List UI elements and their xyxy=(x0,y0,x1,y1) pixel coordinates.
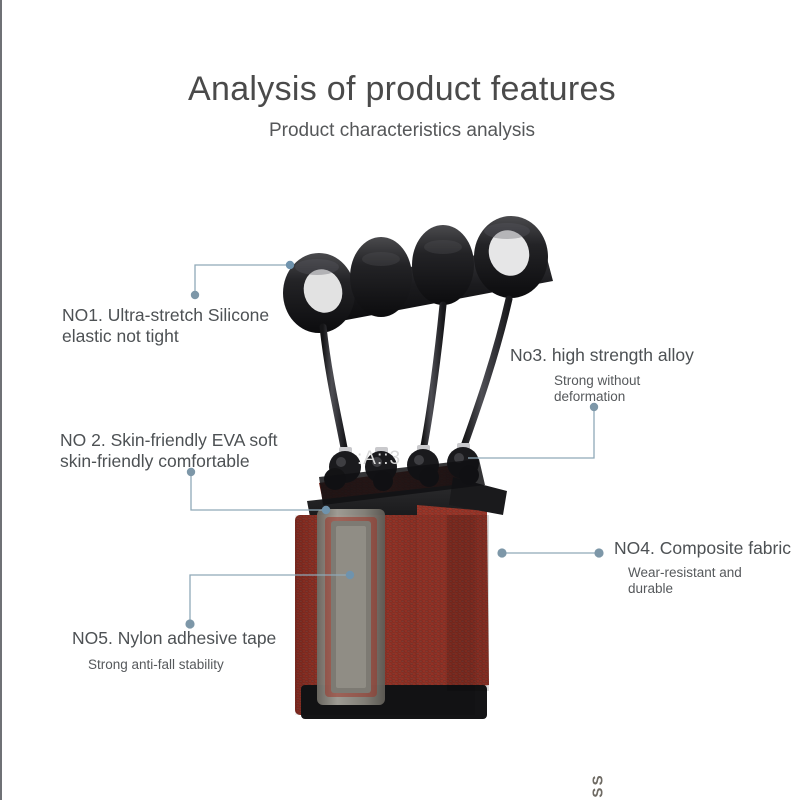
annotation-no2: NO 2. Skin-friendly EVA soft skin-friend… xyxy=(60,430,278,472)
annotation-no2-line1: NO 2. Skin-friendly EVA soft xyxy=(60,430,278,451)
annotation-no3-sub-line2: deformation xyxy=(554,389,694,405)
alloy-rods xyxy=(323,299,509,453)
annotation-no3-sub-line1: Strong without xyxy=(554,373,694,389)
annotation-no1-line2: elastic not tight xyxy=(62,326,269,347)
page-subtitle: Product characteristics analysis xyxy=(2,120,800,142)
annotation-no5-line1: NO5. Nylon adhesive tape xyxy=(72,628,276,649)
annotation-no4-sub-line1: Wear-resistant and xyxy=(628,565,791,581)
annotation-no4-sub-line2: durable xyxy=(628,581,791,597)
annotation-no2-line2: skin-friendly comfortable xyxy=(60,451,278,472)
leader-dot-no4-text xyxy=(594,548,603,557)
product-feature-infographic: Analysis of product features Product cha… xyxy=(0,0,800,800)
annotation-no5: NO5. Nylon adhesive tape Strong anti-fal… xyxy=(72,628,276,673)
annotation-no3: No3. high strength alloy Strong without … xyxy=(510,345,694,405)
image-overlay-artifact: :A::3 xyxy=(357,448,401,470)
annotation-no3-sub: Strong without deformation xyxy=(554,373,694,405)
annotation-no4-line1: NO4. Composite fabric xyxy=(614,538,791,559)
leader-dot-no1-text xyxy=(191,291,199,299)
buckle-hardness-label: HARDNESS xyxy=(586,736,610,800)
finger-rings xyxy=(283,216,553,333)
annotation-no5-sub-line1: Strong anti-fall stability xyxy=(88,657,276,673)
annotation-no1-line1: NO1. Ultra-stretch Silicone xyxy=(62,305,269,326)
product-image-grip-strengthener: HARDNESS xyxy=(257,215,577,725)
annotation-no1: NO1. Ultra-stretch Silicone elastic not … xyxy=(62,305,269,347)
buckle-plate xyxy=(317,509,385,705)
annotation-no3-line1: No3. high strength alloy xyxy=(510,345,694,366)
page-title: Analysis of product features xyxy=(2,70,800,109)
annotation-no4-sub: Wear-resistant and durable xyxy=(628,565,791,597)
annotation-no4: NO4. Composite fabric Wear-resistant and… xyxy=(614,538,791,597)
